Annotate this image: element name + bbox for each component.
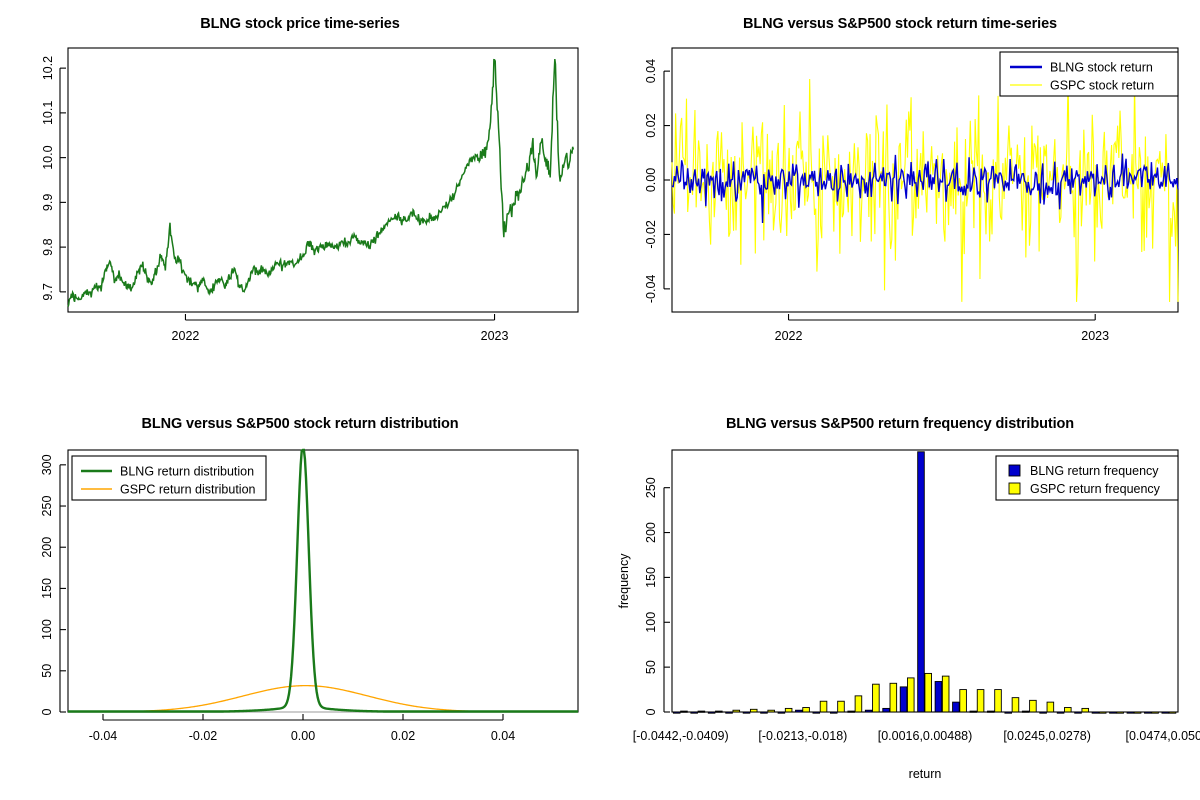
blng-bar <box>953 702 960 712</box>
svg-text:300: 300 <box>40 454 54 475</box>
svg-text:10.2: 10.2 <box>41 56 55 80</box>
price-plot-svg: 9.79.89.910.010.110.220222023 <box>0 0 600 400</box>
svg-text:150: 150 <box>40 578 54 599</box>
panel-return-timeseries: BLNG versus S&P500 stock return time-ser… <box>600 0 1200 400</box>
frequency-xtick-label: [-0.0442,-0.0409) <box>633 729 729 743</box>
svg-text:200: 200 <box>40 537 54 558</box>
frequency-plot-svg: 050100150200250returnfrequency[-0.0442,-… <box>600 400 1200 800</box>
frequency-xtick-label: [0.0474,0.0507) <box>1125 729 1200 743</box>
svg-text:150: 150 <box>644 567 658 588</box>
svg-text:10.1: 10.1 <box>41 101 55 125</box>
price-line <box>68 59 573 307</box>
returns-legend: BLNG stock returnGSPC stock return <box>1000 52 1178 96</box>
svg-text:50: 50 <box>40 664 54 678</box>
svg-text:50: 50 <box>644 660 658 674</box>
blng-bar <box>900 687 907 712</box>
gspc-bar <box>838 701 845 712</box>
gspc-bar <box>942 676 949 712</box>
svg-text:10.0: 10.0 <box>41 145 55 169</box>
legend-label-0: BLNG return frequency <box>1030 464 1159 478</box>
panel-return-frequency: BLNG versus S&P500 return frequency dist… <box>600 400 1200 800</box>
legend-label-1: GSPC return distribution <box>120 483 256 497</box>
svg-text:0.04: 0.04 <box>491 729 515 743</box>
svg-text:9.7: 9.7 <box>41 283 55 300</box>
distribution-plot-svg: 050100150200250300-0.04-0.020.000.020.04… <box>0 400 600 800</box>
panel-price-timeseries: BLNG stock price time-series 9.79.89.910… <box>0 0 600 400</box>
svg-text:0.00: 0.00 <box>291 729 315 743</box>
svg-text:200: 200 <box>644 522 658 543</box>
svg-text:0: 0 <box>40 708 54 715</box>
gspc-bar <box>977 690 984 712</box>
gspc-bar <box>1012 698 1019 712</box>
legend-label-1: GSPC return frequency <box>1030 482 1161 496</box>
gspc-bar <box>1030 700 1037 712</box>
svg-text:2022: 2022 <box>775 329 803 343</box>
legend-label-0: BLNG stock return <box>1050 61 1153 75</box>
svg-text:250: 250 <box>644 477 658 498</box>
blng-bar <box>935 681 942 712</box>
svg-text:-0.04: -0.04 <box>644 275 658 304</box>
frequency-xaxis-title: return <box>909 767 942 781</box>
gspc-bar <box>995 690 1002 712</box>
svg-text:250: 250 <box>40 496 54 517</box>
returns-plot-svg: -0.04-0.020.000.020.0420222023 BLNG stoc… <box>600 0 1200 400</box>
gspc-bar <box>803 708 810 712</box>
svg-text:0.02: 0.02 <box>391 729 415 743</box>
distribution-legend: BLNG return distributionGSPC return dist… <box>72 456 266 500</box>
svg-text:9.8: 9.8 <box>41 238 55 255</box>
svg-text:2022: 2022 <box>172 329 200 343</box>
panel-return-distribution: BLNG versus S&P500 stock return distribu… <box>0 400 600 800</box>
svg-text:-0.02: -0.02 <box>644 220 658 249</box>
svg-text:9.9: 9.9 <box>41 194 55 211</box>
frequency-legend: BLNG return frequencyGSPC return frequen… <box>996 456 1178 500</box>
gspc-return-line <box>672 76 1178 302</box>
figure-canvas: BLNG stock price time-series 9.79.89.910… <box>0 0 1200 800</box>
svg-text:100: 100 <box>644 612 658 633</box>
svg-text:-0.02: -0.02 <box>189 729 218 743</box>
svg-text:0.04: 0.04 <box>644 59 658 83</box>
svg-text:0.02: 0.02 <box>644 113 658 137</box>
svg-text:2023: 2023 <box>481 329 509 343</box>
svg-text:-0.04: -0.04 <box>89 729 118 743</box>
frequency-xtick-label: [0.0245,0.0278) <box>1003 729 1091 743</box>
blng-bar <box>918 452 925 712</box>
gspc-bar <box>1064 708 1071 712</box>
gspc-bar <box>855 696 862 712</box>
frequency-xtick-label: [0.0016,0.00488) <box>878 729 973 743</box>
gspc-bar <box>820 701 827 712</box>
gspc-bar <box>1047 702 1054 712</box>
legend-swatch-0 <box>1009 465 1020 476</box>
gspc-bar <box>873 684 880 712</box>
svg-text:2023: 2023 <box>1081 329 1109 343</box>
frequency-yaxis-title: frequency <box>617 553 631 609</box>
svg-text:0: 0 <box>644 708 658 715</box>
gspc-bar <box>890 683 897 712</box>
svg-text:0.00: 0.00 <box>644 168 658 192</box>
gspc-bar <box>907 678 914 712</box>
gspc-bar <box>925 673 932 712</box>
svg-text:100: 100 <box>40 619 54 640</box>
legend-swatch-1 <box>1009 483 1020 494</box>
frequency-xtick-label: [-0.0213,-0.018) <box>758 729 847 743</box>
legend-label-1: GSPC stock return <box>1050 79 1154 93</box>
legend-label-0: BLNG return distribution <box>120 465 254 479</box>
gspc-bar <box>960 690 967 712</box>
